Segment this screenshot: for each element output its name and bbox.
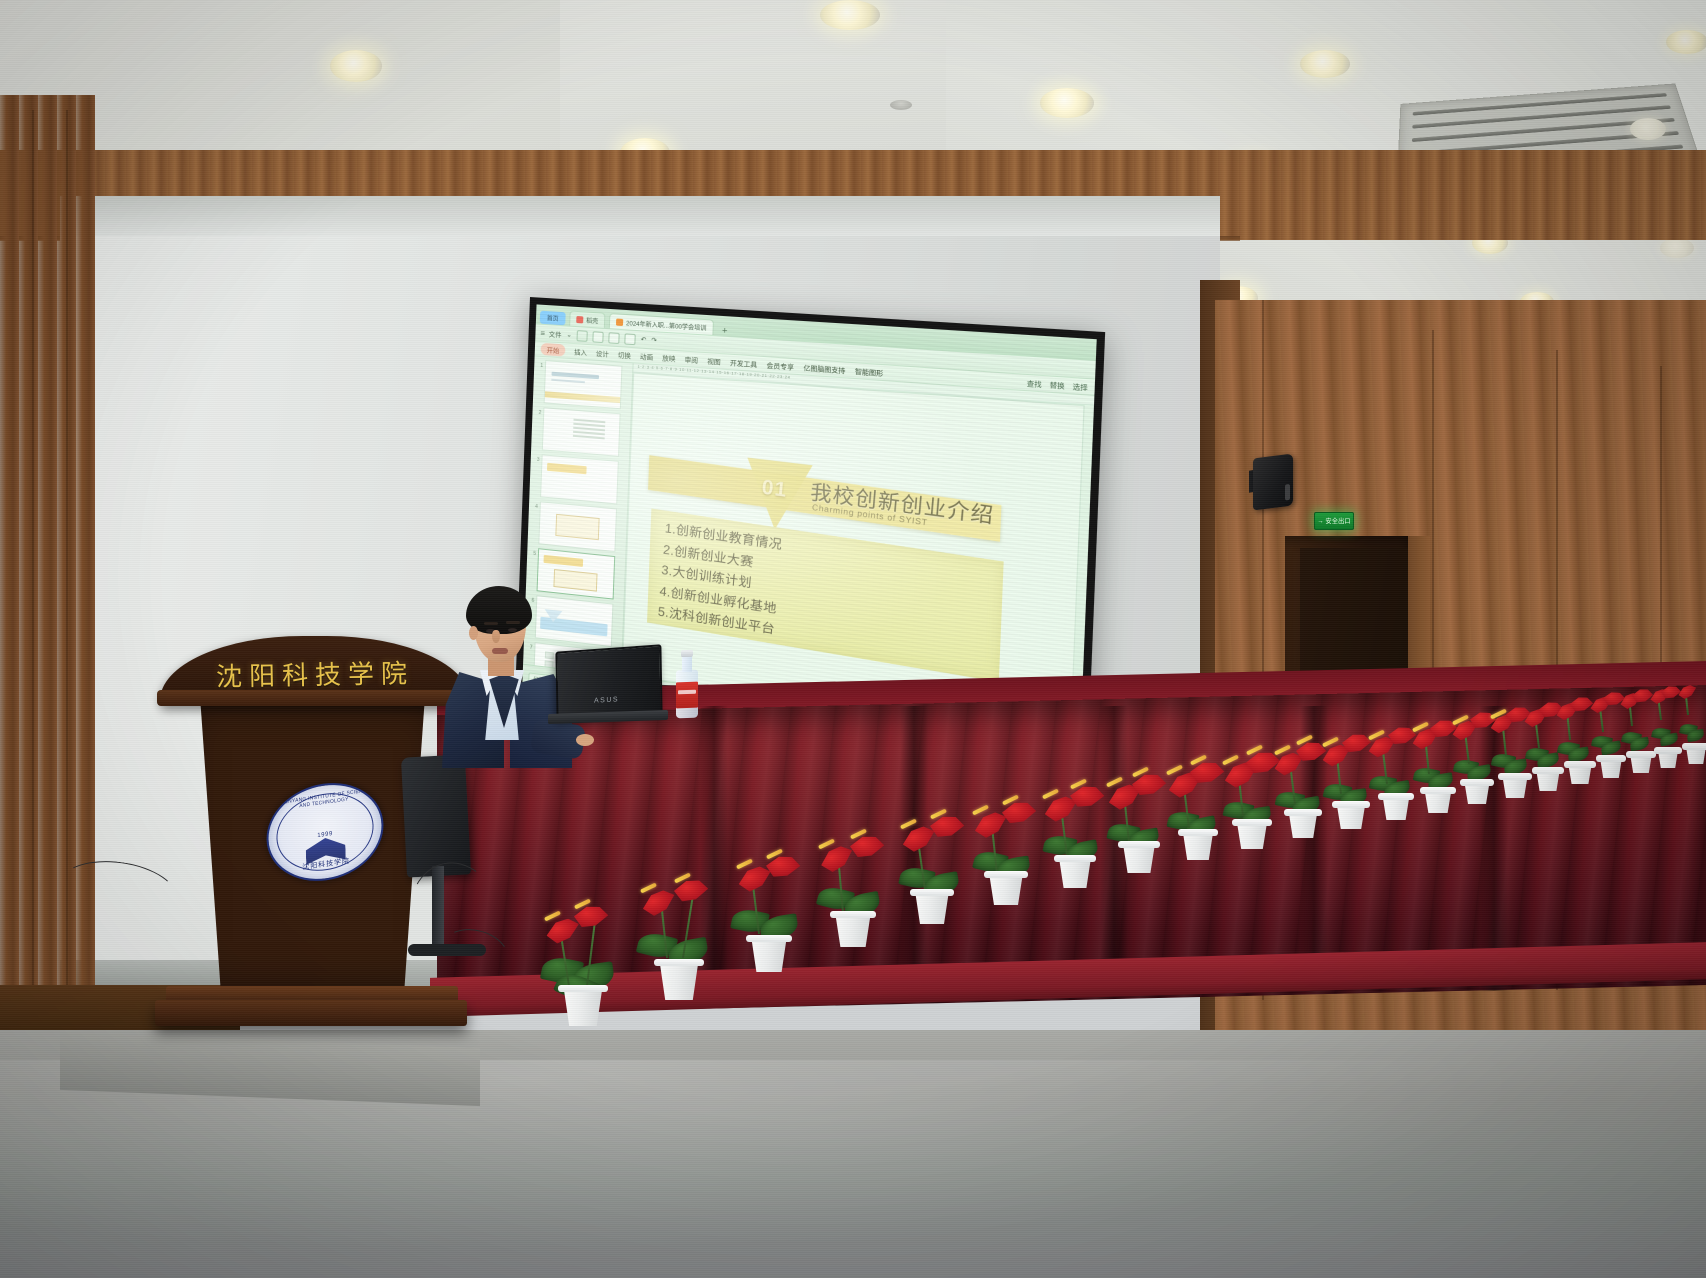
flower-spadix — [1274, 744, 1291, 755]
podium-lip — [157, 690, 473, 706]
hand — [576, 734, 594, 746]
thumbnail-number: 1 — [536, 360, 543, 369]
file-menu[interactable]: 文件 — [549, 328, 562, 339]
redo-icon[interactable]: ↷ — [651, 336, 657, 345]
print-icon[interactable] — [592, 331, 603, 343]
flower-spathe — [1001, 801, 1037, 826]
white-wall-shadow — [60, 196, 1220, 236]
slide-thumbnail[interactable] — [540, 454, 619, 504]
flower-spathe — [673, 879, 708, 903]
thumbnail-number: 3 — [533, 453, 540, 463]
flower-spadix — [736, 858, 753, 869]
wood-seam — [32, 110, 34, 1010]
undo-icon[interactable]: ↶ — [641, 335, 647, 344]
ceiling-light — [1666, 30, 1706, 54]
flower-pot-rim — [1420, 787, 1456, 794]
ceiling-light — [330, 50, 382, 82]
flower-spadix — [900, 818, 917, 829]
wall-speaker — [1253, 454, 1293, 511]
flower-pot-rim — [654, 959, 704, 966]
ribbon-tab-animation[interactable]: 动画 — [640, 351, 654, 362]
thumbnail-number: 4 — [531, 500, 538, 510]
exit-arrow-icon: → — [1317, 518, 1323, 524]
export-pdf-icon[interactable] — [608, 332, 619, 344]
save-icon[interactable] — [577, 330, 588, 342]
flower-pot-rim — [984, 871, 1028, 878]
flower-pot-rim — [1118, 841, 1160, 848]
flower-spathe — [817, 843, 856, 874]
stem — [1535, 722, 1540, 748]
flower-spadix — [1166, 764, 1183, 775]
auditorium-photo: → 安全出口 → 安全出口 首页 稻壳 2024年新入职...第00学会培训 + — [0, 0, 1706, 1278]
list-item[interactable]: 2 — [533, 407, 629, 458]
stem — [1566, 716, 1570, 740]
ceiling-light — [820, 0, 880, 30]
ribbon-tab-home[interactable]: 开始 — [541, 343, 566, 357]
podium-base — [155, 1000, 467, 1026]
slide-thumbnail[interactable] — [542, 407, 621, 457]
flower-pot-rim — [1682, 743, 1706, 750]
flower-pot-rim — [746, 935, 792, 942]
eyebrow — [484, 622, 498, 625]
ribbon-tab-devtools[interactable]: 开发工具 — [730, 357, 758, 369]
flower-spadix — [818, 838, 835, 849]
office-chair — [401, 754, 471, 877]
flower-pot-rim — [910, 889, 954, 896]
flower-spadix — [640, 882, 657, 893]
slide-section-number: 01 — [761, 476, 788, 503]
nose — [492, 630, 500, 643]
ceiling-light — [1040, 88, 1094, 118]
flower-spadix — [1106, 776, 1123, 787]
hamburger-icon[interactable]: ≡ — [540, 328, 544, 337]
exit-sign: → 安全出口 — [1314, 512, 1354, 530]
stem — [1599, 710, 1604, 732]
ribbon-tab-design[interactable]: 设计 — [596, 348, 609, 359]
file-tab-label: 2024年新入职...第00学会培训 — [626, 318, 707, 332]
ribbon-tab-slideshow[interactable]: 放映 — [662, 352, 676, 363]
eyebrow — [506, 621, 520, 624]
ceiling-light — [1630, 118, 1666, 140]
flower-pot — [560, 988, 606, 1026]
share-icon[interactable] — [624, 333, 635, 345]
ppt-file-icon — [616, 318, 623, 326]
flower-spadix — [972, 804, 989, 815]
flower-pot-rim — [830, 911, 876, 918]
flower-pot-rim — [1178, 829, 1218, 836]
ceiling-light — [1300, 50, 1350, 78]
find-button[interactable]: 查找 — [1027, 377, 1042, 389]
thumbnail-number: 5 — [529, 547, 536, 557]
flower-pot-rim — [558, 985, 608, 992]
stem — [1658, 702, 1662, 720]
slide-thumbnail[interactable] — [538, 501, 617, 552]
flower-spadix — [1042, 788, 1059, 799]
stem — [1685, 698, 1689, 715]
bottle-label — [676, 682, 698, 709]
thumbnail-number: 2 — [534, 407, 541, 417]
ear — [469, 626, 478, 640]
flower-pot-rim — [1232, 819, 1272, 826]
flower-spadix — [544, 910, 561, 921]
replace-button[interactable]: 替换 — [1049, 379, 1064, 391]
wps-doc-icon — [576, 315, 583, 322]
list-item[interactable]: 3 — [531, 453, 627, 505]
flower-spadix — [1222, 754, 1239, 765]
home-tab[interactable]: 首页 — [540, 311, 566, 326]
mouth — [492, 648, 508, 654]
ribbon-tab-review[interactable]: 审阅 — [684, 354, 698, 365]
flower-spathe — [640, 888, 679, 919]
ribbon-tab-mindmap[interactable]: 亿图脑图支持 — [803, 362, 845, 375]
laptop-brand-label: ASUS — [594, 696, 619, 704]
water-bottle[interactable] — [676, 650, 698, 719]
eye — [508, 628, 517, 632]
ceiling-light — [1660, 238, 1694, 258]
chevron-down-icon[interactable]: ⌄ — [566, 330, 572, 338]
flower-pot-rim — [1378, 793, 1414, 800]
flower-pot-rim — [1284, 809, 1322, 816]
ribbon-tab-smartart[interactable]: 智能图形 — [855, 365, 884, 378]
ribbon-tab-transition[interactable]: 切换 — [618, 349, 631, 360]
ribbon-tab-view[interactable]: 视图 — [707, 355, 721, 366]
smoke-detector — [890, 100, 912, 110]
stem — [1502, 728, 1507, 756]
flower-pot-rim — [1054, 855, 1096, 862]
exit-sign-label: 安全出口 — [1325, 517, 1350, 526]
stem — [1629, 706, 1633, 726]
bottle-cap — [681, 650, 693, 657]
flower-pot-rim — [1460, 779, 1494, 786]
new-tab-button[interactable]: + — [718, 325, 732, 336]
ribbon-tab-insert[interactable]: 插入 — [574, 346, 587, 357]
flower-pot-rim — [1332, 801, 1370, 808]
ribbon-tab-member[interactable]: 会员专享 — [766, 359, 794, 371]
list-item[interactable]: 1 — [535, 360, 631, 410]
docer-tab[interactable]: 稻壳 — [569, 311, 605, 328]
select-button[interactable]: 选择 — [1073, 380, 1088, 392]
slide-thumbnail[interactable] — [544, 360, 623, 409]
flower-spadix — [1322, 736, 1339, 747]
docer-tab-label: 稻壳 — [586, 315, 598, 325]
list-item[interactable]: 4 — [530, 500, 625, 552]
